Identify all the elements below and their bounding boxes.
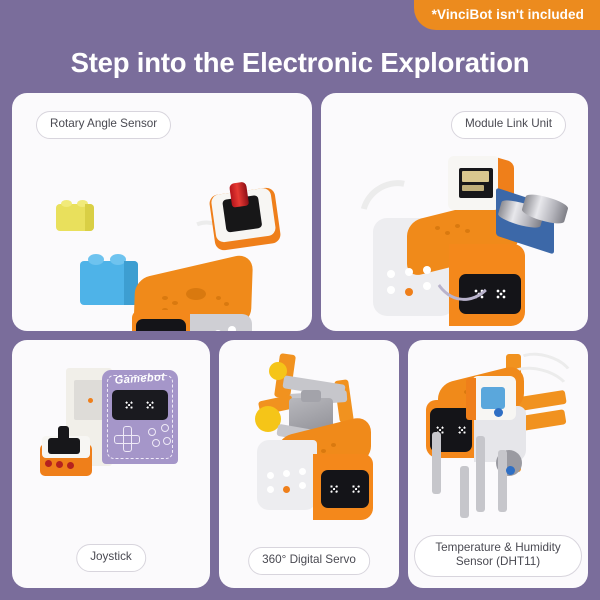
card-joystick[interactable]: Gamebot	[12, 340, 210, 588]
card-digital-servo[interactable]: 360° Digital Servo	[219, 340, 399, 588]
card-rotary-angle-sensor[interactable]: Rotary Angle Sensor	[12, 93, 312, 331]
beam-leg-1	[432, 432, 441, 494]
card-label-rotary-angle-sensor: Rotary Angle Sensor	[36, 111, 171, 139]
vincibot-robot	[128, 266, 268, 331]
card-label-temperature-humidity-sensor: Temperature & Humidity Sensor (DHT11)	[414, 535, 582, 577]
blue-connector-2	[506, 466, 515, 475]
card-temperature-humidity-sensor[interactable]: Temperature & Humidity Sensor (DHT11)	[408, 340, 588, 588]
lego-brick-yellow	[56, 204, 94, 231]
gamebot-card: Gamebot	[102, 370, 178, 464]
card-row-bottom: Gamebot	[12, 340, 588, 588]
beam-leg-4	[460, 466, 469, 518]
dht-orange-edge	[466, 378, 476, 420]
card-label-module-link-unit: Module Link Unit	[451, 111, 566, 139]
vincibot-robot	[257, 426, 377, 516]
not-included-badge: *VinciBot isn't included	[414, 0, 600, 30]
joystick-module	[40, 444, 92, 476]
page-title: Step into the Electronic Exploration	[0, 47, 600, 79]
card-label-digital-servo: 360° Digital Servo	[248, 547, 370, 575]
card-row-top: Rotary Angle Sensor	[12, 93, 588, 331]
card-label-joystick: Joystick	[76, 544, 146, 572]
beam-leg-2	[476, 436, 485, 512]
beam-leg-3	[498, 450, 507, 512]
dpad	[114, 426, 140, 452]
blue-connector-1	[494, 408, 503, 417]
servo-horn	[301, 390, 321, 402]
action-buttons	[146, 424, 172, 452]
card-module-link-unit[interactable]: Module Link Unit	[321, 93, 588, 331]
rotary-angle-sensor-module	[208, 187, 281, 252]
servo-disc-upper	[269, 362, 287, 380]
feature-card-grid: Rotary Angle Sensor	[12, 93, 588, 588]
